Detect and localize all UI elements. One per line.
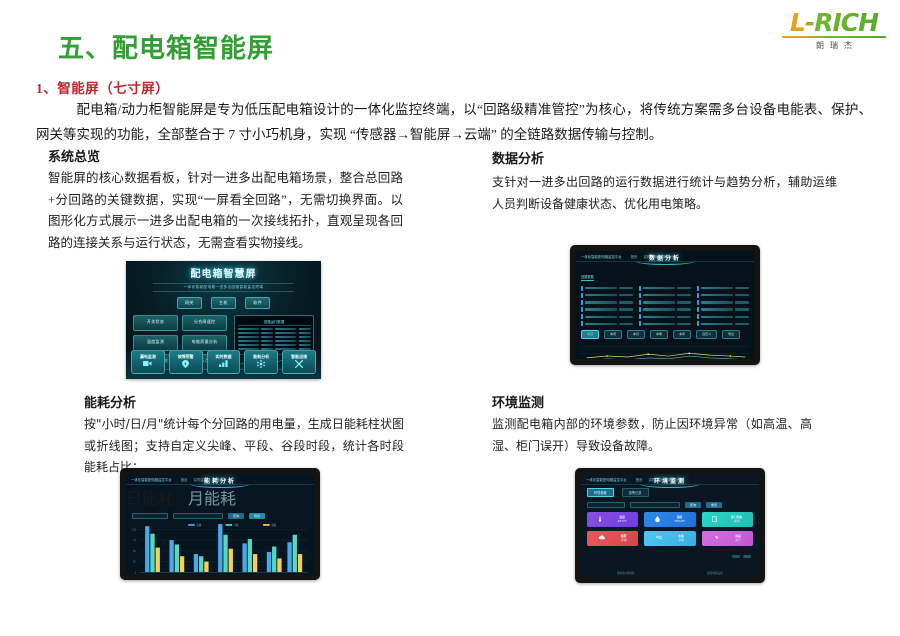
- env-pagination[interactable]: [581, 555, 759, 562]
- status-dot-icon: [581, 286, 583, 291]
- body-system-overview: 智能屏的核心数据看板，针对一进多出配电箱场景，整合总回路+分回路的关键数据，实现…: [48, 168, 403, 254]
- range-chip-week[interactable]: 本周: [604, 330, 622, 339]
- svg-text:50: 50: [133, 550, 136, 553]
- data-row-grid: [576, 284, 754, 326]
- row-value: [735, 301, 749, 303]
- video-camera-icon: [132, 360, 164, 369]
- env-card-label: 水浸正常: [678, 535, 684, 542]
- range-chip-year[interactable]: 本年: [673, 330, 691, 339]
- panel-cell: [299, 332, 311, 334]
- data-list-item[interactable]: [697, 307, 749, 312]
- data-list-item[interactable]: [581, 286, 633, 291]
- dock-label: 智能运维: [283, 354, 315, 359]
- panel-cell: [299, 336, 311, 338]
- svg-text:0: 0: [135, 571, 137, 574]
- env-reset-button[interactable]: 重置: [706, 502, 722, 508]
- env-query-button[interactable]: 查询: [685, 502, 701, 508]
- panel-cell: [275, 340, 296, 342]
- energy-filters: 查询 导出: [126, 509, 314, 521]
- row-label: [585, 287, 617, 289]
- row-value: [619, 308, 633, 310]
- status-dot-icon: [697, 300, 699, 305]
- status-dot-icon: [697, 293, 699, 298]
- logo-chinese-name: 朗瑞杰: [782, 40, 886, 51]
- heading-system-overview: 系统总览: [48, 146, 100, 165]
- panel-cell: [299, 328, 311, 330]
- energy-date-input[interactable]: [173, 513, 223, 519]
- energy-export-button[interactable]: 导出: [249, 513, 265, 519]
- value-text: 正常: [621, 538, 627, 542]
- row-value: [619, 287, 633, 289]
- status-dot-icon: [697, 307, 699, 312]
- data-list-item[interactable]: [697, 314, 749, 319]
- row-label: [701, 316, 733, 318]
- row-value: [677, 294, 691, 296]
- water-icon: [656, 535, 662, 542]
- smoke-icon: [599, 535, 605, 542]
- row-label: [701, 308, 733, 310]
- overview-tab-host[interactable]: 主机: [211, 297, 236, 309]
- status-dot-icon: [639, 314, 641, 319]
- status-dot-icon: [581, 314, 583, 319]
- status-dot-icon: [581, 293, 583, 298]
- data-list-item[interactable]: [639, 300, 691, 305]
- env-card-label: 温度28.5℃: [617, 516, 626, 523]
- dock-button-smart-maintenance[interactable]: 智能运维: [282, 350, 316, 374]
- data-list-item[interactable]: [697, 293, 749, 298]
- value-text: 28.5℃: [617, 519, 626, 523]
- energy-nav-home[interactable]: 首页: [181, 477, 188, 482]
- row-value: [619, 294, 633, 296]
- env-card-fan[interactable]: 风扇运行: [702, 531, 753, 546]
- env-date-input[interactable]: [630, 502, 680, 508]
- row-label: [701, 323, 733, 325]
- row-label: [701, 294, 733, 296]
- status-dot-icon: [581, 307, 583, 312]
- dock-button-realtime-data[interactable]: 实时数据: [207, 350, 241, 374]
- panel-cell: [238, 332, 259, 334]
- range-chip-quarter[interactable]: 本季: [650, 330, 668, 339]
- range-chip-month[interactable]: 本月: [627, 330, 645, 339]
- panel-row: [238, 332, 311, 334]
- page-prev[interactable]: [732, 555, 740, 558]
- panel-row: [238, 340, 311, 342]
- data-center-title: 数据分析: [649, 253, 681, 262]
- row-value: [735, 316, 749, 318]
- env-card-label: 风扇运行: [735, 535, 741, 542]
- data-list-item[interactable]: [639, 286, 691, 291]
- env-tab-parameters[interactable]: 环境参数: [587, 488, 614, 497]
- thermometer-icon: [598, 516, 602, 524]
- dock-label: 能耗分析: [245, 354, 277, 359]
- overview-tabs: 网关 主机 软件: [126, 297, 321, 309]
- dock-button-fault-warning[interactable]: 故障预警: [169, 350, 203, 374]
- row-label: [643, 316, 675, 318]
- screenshot-data-analysis: 一体化智能配电箱监控平台 首页 实时监测 数据分析 数据分析 报警管理 系统设置…: [570, 245, 760, 365]
- dock-label: 实时数据: [208, 354, 240, 359]
- status-dot-icon: [639, 286, 641, 291]
- heading-environment-monitoring: 环境监测: [492, 392, 544, 411]
- row-value: [619, 316, 633, 318]
- bar-chart-icon: [208, 360, 240, 369]
- page-next[interactable]: [743, 555, 751, 558]
- energy-tabs: 日能耗 月能耗: [126, 485, 314, 509]
- row-label: [701, 287, 733, 289]
- env-footer: 数据每5秒刷新 报警阈值设置: [581, 571, 759, 577]
- env-device-input[interactable]: [587, 502, 625, 508]
- door-icon: [712, 516, 717, 524]
- overview-subtitle: 一体化智能配电箱一进多出回路智能监控终端: [153, 283, 293, 292]
- dock-label: 漏电监测: [132, 354, 164, 359]
- overview-tab-software[interactable]: 软件: [245, 297, 270, 309]
- status-dot-icon: [697, 286, 699, 291]
- env-card-smoke[interactable]: 烟雾正常: [587, 531, 638, 546]
- page-title: 五、配电箱智能屏: [58, 28, 274, 65]
- svg-text:100: 100: [132, 528, 137, 531]
- overview-tab-gateway[interactable]: 网关: [177, 297, 202, 309]
- panel-cell: [261, 340, 273, 342]
- env-brand: 一体化智能配电箱监控平台: [586, 477, 627, 482]
- chip-remote-control[interactable]: 分合闸遥控: [182, 315, 227, 331]
- data-trend-chart: [581, 343, 749, 359]
- env-card-label: 烟雾正常: [621, 535, 627, 542]
- row-label: [585, 294, 617, 296]
- panel-cell: [299, 340, 311, 342]
- panel-cell: [238, 328, 259, 330]
- panel-cell: [275, 332, 296, 334]
- screenshot-energy-analysis: 一体化智能配电箱监控平台 首页 实时监测 数据分析 能耗分析 报警管理 系统设置…: [120, 468, 320, 580]
- data-list-item[interactable]: [581, 300, 633, 305]
- range-chip-today[interactable]: 今日: [581, 330, 599, 339]
- tools-icon: [283, 360, 315, 370]
- data-range-chips: 今日 本周 本月 本季 本年 自定义 导出: [576, 326, 754, 341]
- env-footer-note-threshold: 报警阈值设置: [707, 571, 723, 575]
- env-card-door-status[interactable]: 柜门状态关闭: [702, 512, 753, 527]
- row-value: [619, 301, 633, 303]
- env-card-humidity[interactable]: 湿度56%RH: [644, 512, 695, 527]
- row-value: [735, 287, 749, 289]
- heading-data-analysis: 数据分析: [492, 148, 544, 167]
- overview-title: 配电箱智慧屏: [126, 265, 321, 280]
- body-data-analysis: 支针对一进多出回路的运行数据进行统计与趋势分析，辅助运维人员判断设备健康状态、优…: [492, 172, 837, 215]
- row-value: [677, 287, 691, 289]
- energy-brand: 一体化智能配电箱监控平台: [131, 477, 172, 482]
- row-label: [585, 301, 617, 303]
- panel-cell: [275, 336, 296, 338]
- panel-cell: [275, 328, 296, 330]
- panel-cell: [261, 328, 273, 330]
- row-label: [643, 287, 675, 289]
- screenshot-system-overview: 配电箱智慧屏 一体化智能配电箱一进多出回路智能监控终端 网关 主机 软件 开关状…: [126, 261, 321, 379]
- dock-button-leakage-monitoring[interactable]: 漏电监测: [131, 350, 165, 374]
- row-label: [585, 323, 617, 325]
- data-list-item[interactable]: [581, 307, 633, 312]
- env-card-label: 湿度56%RH: [674, 516, 684, 523]
- panel-cell: [238, 340, 259, 342]
- env-card-water[interactable]: 水浸正常: [644, 531, 695, 546]
- status-dot-icon: [581, 300, 583, 305]
- value-text: 运行: [735, 538, 741, 542]
- env-topbar: 一体化智能配电箱监控平台 首页 实时监测 数据分析 环境监测 报警管理 系统设置…: [581, 474, 759, 485]
- brand-logo: L-RICH 朗瑞杰: [782, 10, 886, 51]
- panel-row: [238, 336, 311, 338]
- panel-cell: [238, 336, 259, 338]
- env-center-title: 环境监测: [654, 476, 686, 485]
- row-value: [677, 316, 691, 318]
- data-list-item[interactable]: [639, 314, 691, 319]
- heading-energy-analysis: 能耗分析: [84, 392, 136, 411]
- data-list-item[interactable]: [639, 293, 691, 298]
- intro-paragraph: 配电箱/动力柜智能屏是专为低压配电箱设计的一体化监控终端，以“回路级精准管控”为…: [36, 98, 872, 148]
- humidity-icon: [655, 516, 660, 524]
- env-card-temperature[interactable]: 温度28.5℃: [587, 512, 638, 527]
- screen-environment-monitoring: 一体化智能配电箱监控平台 首页 实时监测 数据分析 环境监测 报警管理 系统设置…: [581, 474, 759, 577]
- data-subtab-circuit[interactable]: 回路数据: [581, 274, 594, 281]
- row-label: [643, 308, 675, 310]
- section-subtitle: 1、智能屏（七寸屏）: [36, 77, 169, 97]
- value-text: 正常: [678, 538, 684, 542]
- row-label: [643, 294, 675, 296]
- svg-text:平段: 平段: [234, 523, 239, 527]
- row-value: [677, 301, 691, 303]
- dock-button-energy-analysis[interactable]: 能耗分析: [244, 350, 278, 374]
- screen-system-overview: 配电箱智慧屏 一体化智能配电箱一进多出回路智能监控终端 网关 主机 软件 开关状…: [126, 261, 321, 379]
- row-label: [585, 308, 617, 310]
- row-label: [701, 301, 733, 303]
- row-label: [643, 301, 675, 303]
- fan-icon: [714, 535, 719, 542]
- row-label: [643, 323, 675, 325]
- row-label: [585, 316, 617, 318]
- dock-label: 故障预警: [170, 354, 202, 359]
- env-card-label: 柜门状态关闭: [731, 516, 742, 523]
- data-list-item[interactable]: [581, 314, 633, 319]
- logo-wordmark: L-RICH: [782, 10, 886, 35]
- data-subtabs: 回路数据: [576, 262, 754, 284]
- data-list-item[interactable]: [639, 307, 691, 312]
- row-value: [677, 308, 691, 310]
- value-text: 关闭: [734, 519, 740, 523]
- data-list-item[interactable]: [697, 286, 749, 291]
- energy-topbar: 一体化智能配电箱监控平台 首页 实时监测 数据分析 能耗分析 报警管理 系统设置…: [126, 474, 314, 485]
- alert-bolt-icon: [170, 360, 202, 370]
- range-chip-custom[interactable]: 自定义: [696, 330, 717, 339]
- data-list-item[interactable]: [697, 300, 749, 305]
- data-topbar: 一体化智能配电箱监控平台 首页 实时监测 数据分析 数据分析 报警管理 系统设置…: [576, 251, 754, 262]
- status-dot-icon: [639, 300, 641, 305]
- value-text: 56%RH: [674, 519, 684, 523]
- data-list-item[interactable]: [581, 293, 633, 298]
- network-nodes-icon: [245, 360, 277, 370]
- env-card-grid: 温度28.5℃ 湿度56%RH 柜门状态关闭: [581, 511, 759, 546]
- svg-text:谷段: 谷段: [271, 523, 276, 527]
- svg-text:75: 75: [133, 539, 136, 542]
- svg-text:尖峰: 尖峰: [197, 523, 202, 527]
- energy-tab-monthly[interactable]: 月能耗: [188, 491, 236, 508]
- env-tab-alarm-records[interactable]: 报警记录: [622, 488, 649, 497]
- overview-panel-title: 回路运行数据: [238, 319, 311, 327]
- energy-circuit-select[interactable]: [132, 513, 168, 519]
- body-environment-monitoring: 监测配电箱内部的环境参数，防止因环境异常（如高温、高湿、柜门误开）导致设备故障。: [492, 414, 812, 457]
- energy-tab-daily[interactable]: 日能耗: [126, 491, 174, 508]
- status-dot-icon: [697, 314, 699, 319]
- data-brand: 一体化智能配电箱监控平台: [581, 254, 622, 259]
- env-footer-note-refresh: 数据每5秒刷新: [617, 571, 634, 575]
- screen-energy-analysis: 一体化智能配电箱监控平台 首页 实时监测 数据分析 能耗分析 报警管理 系统设置…: [126, 474, 314, 574]
- status-dot-icon: [639, 293, 641, 298]
- energy-query-button[interactable]: 查询: [228, 513, 244, 519]
- row-value: [677, 323, 691, 325]
- panel-cell: [261, 332, 273, 334]
- range-chip-export[interactable]: 导出: [722, 330, 740, 339]
- screenshot-environment-monitoring: 一体化智能配电箱监控平台 首页 实时监测 数据分析 环境监测 报警管理 系统设置…: [575, 468, 765, 583]
- row-value: [735, 323, 749, 325]
- row-value: [619, 323, 633, 325]
- panel-cell: [261, 336, 273, 338]
- env-search-bar: 查询 重置: [581, 499, 759, 511]
- energy-center-title: 能耗分析: [204, 476, 236, 485]
- energy-bar-chart: 10075 50250: [126, 521, 314, 574]
- row-value: [735, 308, 749, 310]
- chip-switch-status[interactable]: 开关状态: [133, 315, 178, 331]
- screen-data-analysis: 一体化智能配电箱监控平台 首页 实时监测 数据分析 数据分析 报警管理 系统设置…: [576, 251, 754, 359]
- row-value: [735, 294, 749, 296]
- panel-row: [238, 328, 311, 330]
- overview-dock: 漏电监测 故障预警 实时数据: [126, 346, 321, 379]
- svg-text:25: 25: [133, 561, 136, 564]
- status-dot-icon: [639, 307, 641, 312]
